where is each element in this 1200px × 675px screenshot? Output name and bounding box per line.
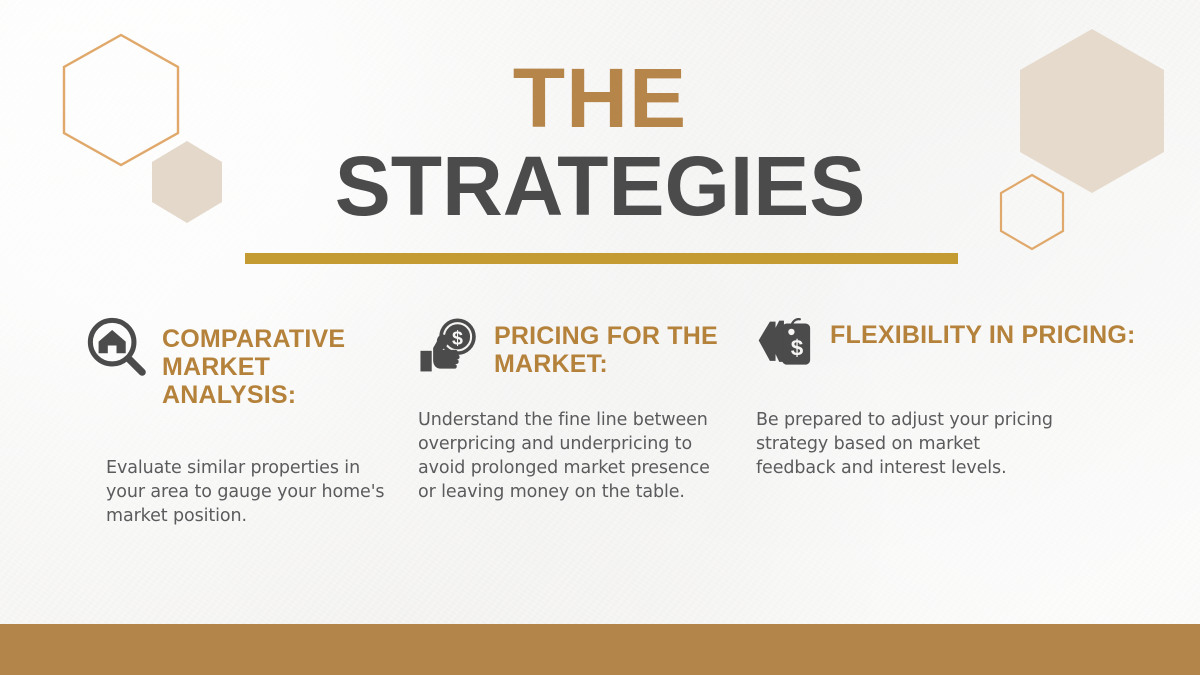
strategy-column-1: COMPARATIVE MARKET ANALYSIS: Evaluate si… — [0, 316, 400, 528]
title-underline-rule — [245, 253, 958, 264]
strategy-column-3-title: FLEXIBILITY IN PRICING: — [830, 316, 1136, 349]
strategy-column-2-title: PRICING FOR THE MARKET: — [494, 316, 750, 378]
strategy-column-2-header: $ PRICING FOR THE MARKET: — [420, 316, 750, 380]
magnifier-house-icon — [86, 316, 148, 378]
price-tags-dollar-icon: $ — [750, 316, 816, 374]
strategy-column-1-body: Evaluate similar properties in your area… — [106, 456, 391, 528]
svg-text:$: $ — [452, 328, 463, 350]
hand-holding-coin-icon: $ — [420, 316, 480, 380]
strategy-column-3-body: Be prepared to adjust your pricing strat… — [756, 408, 1061, 480]
page-title: THE STRATEGIES — [0, 56, 1200, 228]
strategy-column-3: $ FLEXIBILITY IN PRICING: Be prepared to… — [750, 316, 1200, 480]
slide-canvas: THE STRATEGIES COMPARATIVE MARKET ANALYS… — [0, 0, 1200, 675]
strategy-column-3-header: $ FLEXIBILITY IN PRICING: — [750, 316, 1200, 374]
strategy-column-2-body: Understand the fine line between overpri… — [418, 408, 710, 504]
title-line-strategies: STRATEGIES — [0, 144, 1200, 228]
strategy-column-2: $ PRICING FOR THE MARKET: Understand the… — [400, 316, 750, 504]
title-line-the: THE — [0, 56, 1200, 140]
strategy-column-1-header: COMPARATIVE MARKET ANALYSIS: — [86, 316, 400, 409]
bottom-accent-bar — [0, 624, 1200, 675]
strategy-columns: COMPARATIVE MARKET ANALYSIS: Evaluate si… — [0, 316, 1200, 528]
strategy-column-1-title: COMPARATIVE MARKET ANALYSIS: — [162, 316, 400, 409]
svg-text:$: $ — [791, 335, 804, 360]
